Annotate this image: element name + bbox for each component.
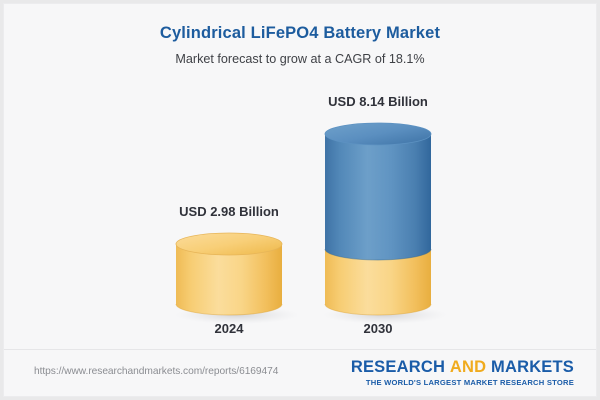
chart-card: Cylindrical LiFePO4 Battery Market Marke… (3, 3, 597, 397)
logo-word-research: RESEARCH (351, 358, 445, 376)
source-url-link[interactable]: https://www.researchandmarkets.com/repor… (34, 366, 278, 377)
chart-plot-area: USD 2.98 Billion USD 8.14 Billion 2024 2… (4, 4, 597, 350)
research-and-markets-logo[interactable]: RESEARCH AND MARKETS THE WORLD'S LARGEST… (351, 358, 574, 388)
logo-tagline: THE WORLD'S LARGEST MARKET RESEARCH STOR… (351, 377, 574, 388)
bar-2030-top-cap (325, 123, 431, 145)
logo-word-markets: MARKETS (491, 358, 574, 376)
value-label-2030: USD 8.14 Billion (268, 94, 488, 109)
category-label-2030: 2030 (268, 321, 488, 336)
bar-2024-top-cap (176, 233, 282, 255)
chart-footer: https://www.researchandmarkets.com/repor… (4, 350, 596, 397)
cylinder-bars-svg (4, 4, 597, 350)
bar-2030[interactable] (325, 123, 431, 315)
logo-word-and: AND (450, 358, 486, 376)
value-label-2024: USD 2.98 Billion (119, 204, 339, 219)
logo-wordmark: RESEARCH AND MARKETS (351, 358, 574, 377)
bar-2030-growth-segment (325, 134, 431, 260)
bar-2024[interactable] (176, 233, 282, 315)
